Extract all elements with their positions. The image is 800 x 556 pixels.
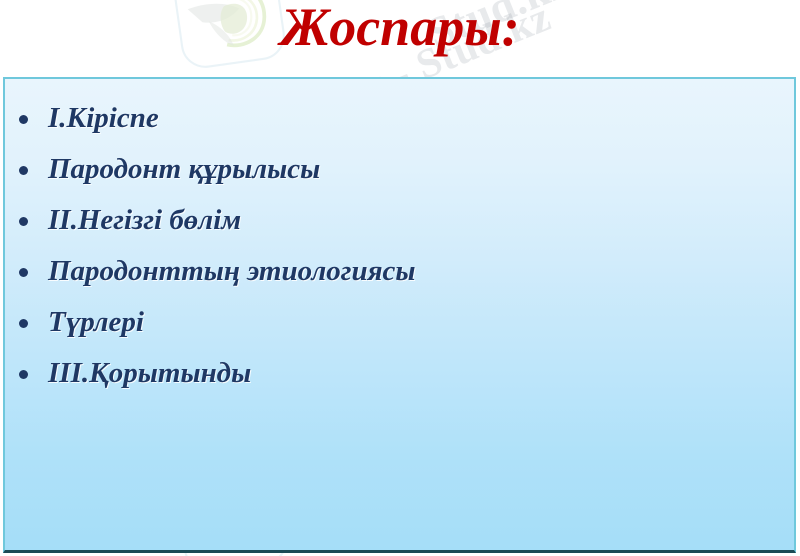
list-item-label: III.Қорытынды [48,357,251,389]
list-item-label: II.Негізгі бөлім [48,204,241,236]
list-item-label: Пародонттың этиологиясы [48,255,416,287]
slide-title: Жоспары: [0,0,800,62]
list-item-label: Түрлері [48,306,144,338]
list-item-label: Пародонт құрылысы [48,153,320,185]
content-box: I.Кіріспе Пародонт құрылысы II.Негізгі б… [3,77,796,553]
list-item: I.Кіріспе [5,93,794,144]
list-item-label: I.Кіріспе [48,102,159,134]
bullet-list: I.Кіріспе Пародонт құрылысы II.Негізгі б… [5,79,794,399]
bullet-dot-icon [19,217,28,226]
slide-canvas: Жоспары: I.Кіріспе Пародонт құрылысы II.… [0,0,800,556]
bullet-dot-icon [19,268,28,277]
list-item: II.Негізгі бөлім [5,195,794,246]
bullet-dot-icon [19,166,28,175]
bullet-dot-icon [19,370,28,379]
list-item: III.Қорытынды [5,348,794,399]
list-item: Пародонт құрылысы [5,144,794,195]
list-item: Пародонттың этиологиясы [5,246,794,297]
bullet-dot-icon [19,115,28,124]
bullet-dot-icon [19,319,28,328]
list-item: Түрлері [5,297,794,348]
